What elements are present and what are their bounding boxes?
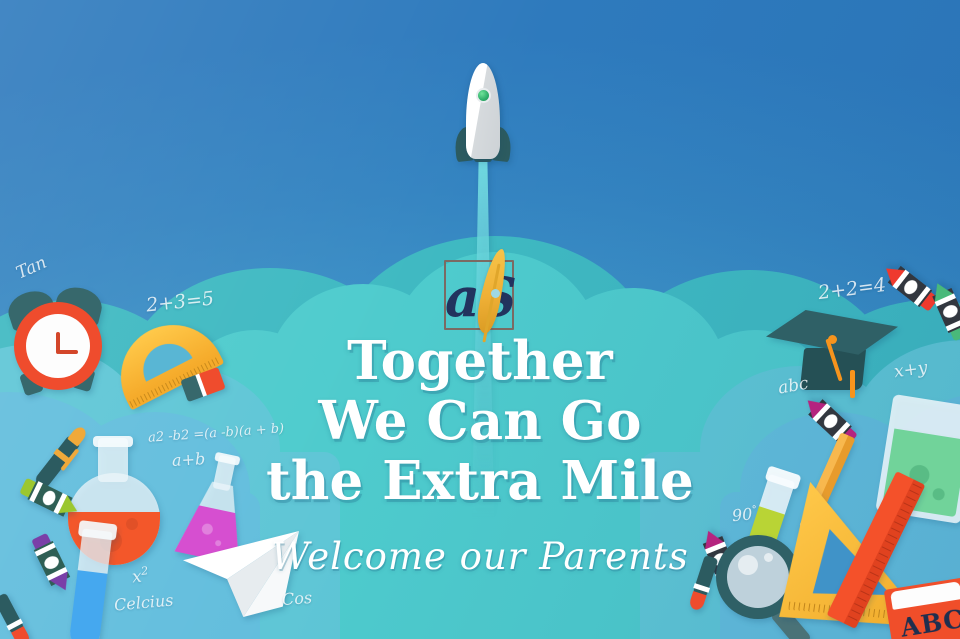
headline-line-1: Together [0, 331, 960, 391]
school-logo: aS [438, 253, 522, 337]
test-tube-liquid [68, 570, 107, 639]
headline-line-3: the Extra Mile [0, 451, 960, 511]
quill-highlight [491, 289, 500, 298]
poster-canvas: ABC Tan 2+3=5 a2 -b2 =(a -b)(a + b) a+b … [0, 0, 960, 639]
round-flask-bubble-small [126, 518, 138, 530]
page-subtitle: Welcome our Parents [0, 534, 960, 580]
rocket-porthole [476, 88, 491, 103]
page-title: Together We Can Go the Extra Mile [0, 331, 960, 511]
scribble-cos: Cos [281, 588, 312, 609]
headline-line-2: We Can Go [0, 391, 960, 451]
rocket-body [466, 63, 500, 159]
rocket-icon [455, 63, 511, 173]
pen-nib [688, 591, 707, 611]
